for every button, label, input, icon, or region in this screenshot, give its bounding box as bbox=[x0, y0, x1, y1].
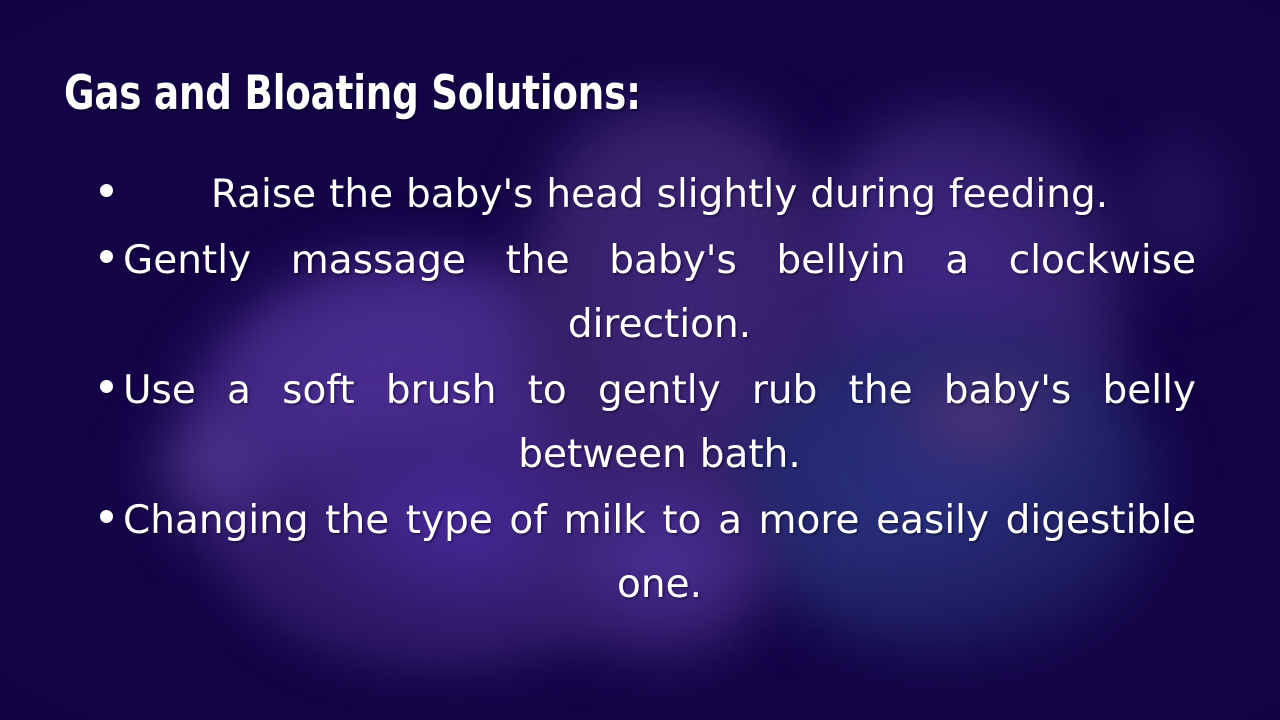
bullet-list: Raise the baby's head slightly during fe… bbox=[100, 163, 1196, 619]
slide-title: Gas and Bloating Solutions: bbox=[64, 66, 641, 121]
list-item: Changing the type of milk to a more easi… bbox=[100, 489, 1196, 617]
bullet-text: Use a soft brush to gently rub the baby'… bbox=[113, 359, 1196, 487]
bullet-text: Gently massage the baby's bellyin a cloc… bbox=[113, 229, 1196, 357]
list-item: Use a soft brush to gently rub the baby'… bbox=[100, 359, 1196, 487]
bullet-dot-icon bbox=[100, 184, 113, 197]
list-item: Raise the baby's head slightly during fe… bbox=[100, 163, 1196, 227]
list-item: Gently massage the baby's bellyin a cloc… bbox=[100, 229, 1196, 357]
bullet-dot-icon bbox=[100, 380, 113, 393]
bullet-text: Raise the baby's head slightly during fe… bbox=[113, 163, 1196, 227]
slide-content: Gas and Bloating Solutions: Raise the ba… bbox=[0, 0, 1280, 720]
bullet-text: Changing the type of milk to a more easi… bbox=[113, 489, 1196, 617]
bullet-dot-icon bbox=[100, 250, 113, 263]
presentation-slide: Gas and Bloating Solutions: Raise the ba… bbox=[0, 0, 1280, 720]
bullet-dot-icon bbox=[100, 510, 113, 523]
